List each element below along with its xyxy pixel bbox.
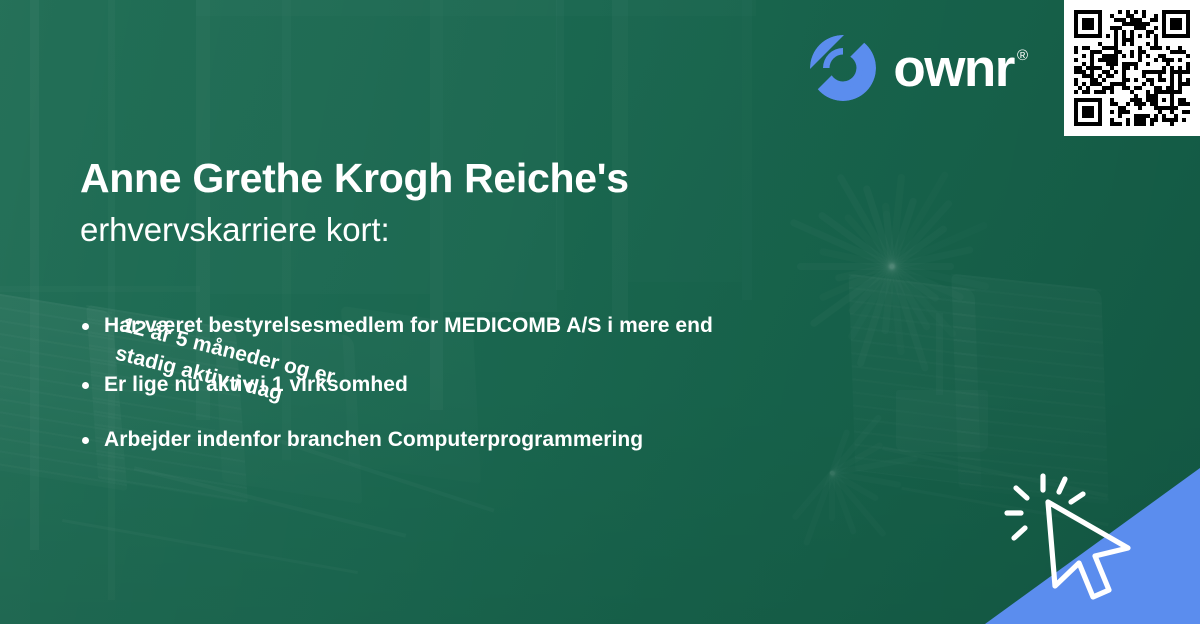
brand-name: ownr bbox=[893, 42, 1014, 95]
brand-lockup[interactable]: ownr ® bbox=[809, 34, 1028, 102]
list-item-line-1: Arbejder indenfor branchen Computerprogr… bbox=[104, 428, 643, 451]
corner-triangle-shape bbox=[985, 468, 1200, 624]
list-item: Arbejder indenfor branchen Computerprogr… bbox=[80, 426, 960, 455]
headline-line-1: Anne Grethe Krogh Reiche's bbox=[80, 154, 780, 202]
qr-code[interactable] bbox=[1064, 0, 1200, 136]
brand-wordmark: ownr ® bbox=[893, 42, 1028, 95]
fact-list: Har været bestyrelsesmedlem for MEDICOMB… bbox=[80, 312, 960, 455]
qr-code-icon bbox=[1074, 10, 1190, 126]
ownr-circle-swoosh-icon bbox=[809, 34, 877, 102]
bullet-dot-icon bbox=[82, 382, 89, 389]
bullet-dot-icon bbox=[82, 323, 89, 330]
list-item-line-1: Er lige nu aktiv i 1 virksomhed bbox=[104, 373, 408, 396]
registered-trademark-icon: ® bbox=[1017, 48, 1028, 63]
bullet-dot-icon bbox=[82, 437, 89, 444]
corner-accent bbox=[985, 468, 1200, 624]
headline-line-2: erhvervskarriere kort: bbox=[80, 208, 780, 253]
list-item: Er lige nu aktiv i 1 virksomhed bbox=[80, 371, 960, 400]
career-card: Anne Grethe Krogh Reiche's erhvervskarri… bbox=[0, 0, 1200, 624]
list-item: Har været bestyrelsesmedlem for MEDICOMB… bbox=[80, 312, 960, 345]
page-title: Anne Grethe Krogh Reiche's erhvervskarri… bbox=[80, 154, 780, 253]
